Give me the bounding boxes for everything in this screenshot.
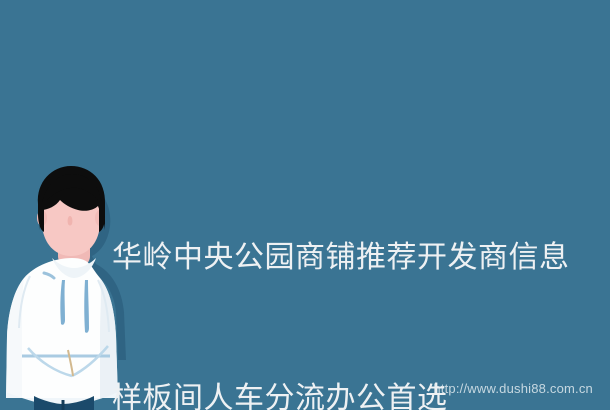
hoodie-shading-left <box>6 278 24 398</box>
site-watermark-url: http://www.dushi88.com.cn <box>433 381 593 396</box>
nose-mark <box>68 216 73 226</box>
headline-line-1: 华岭中央公园商铺推荐开发商信息 <box>112 234 602 281</box>
headline: 华岭中央公园商铺推荐开发商信息 样板间人车分流办公首选 <box>112 140 602 410</box>
article-banner: 华岭中央公园商铺推荐开发商信息 样板间人车分流办公首选 http://www.d… <box>0 0 610 410</box>
hair-side-left <box>38 202 44 232</box>
